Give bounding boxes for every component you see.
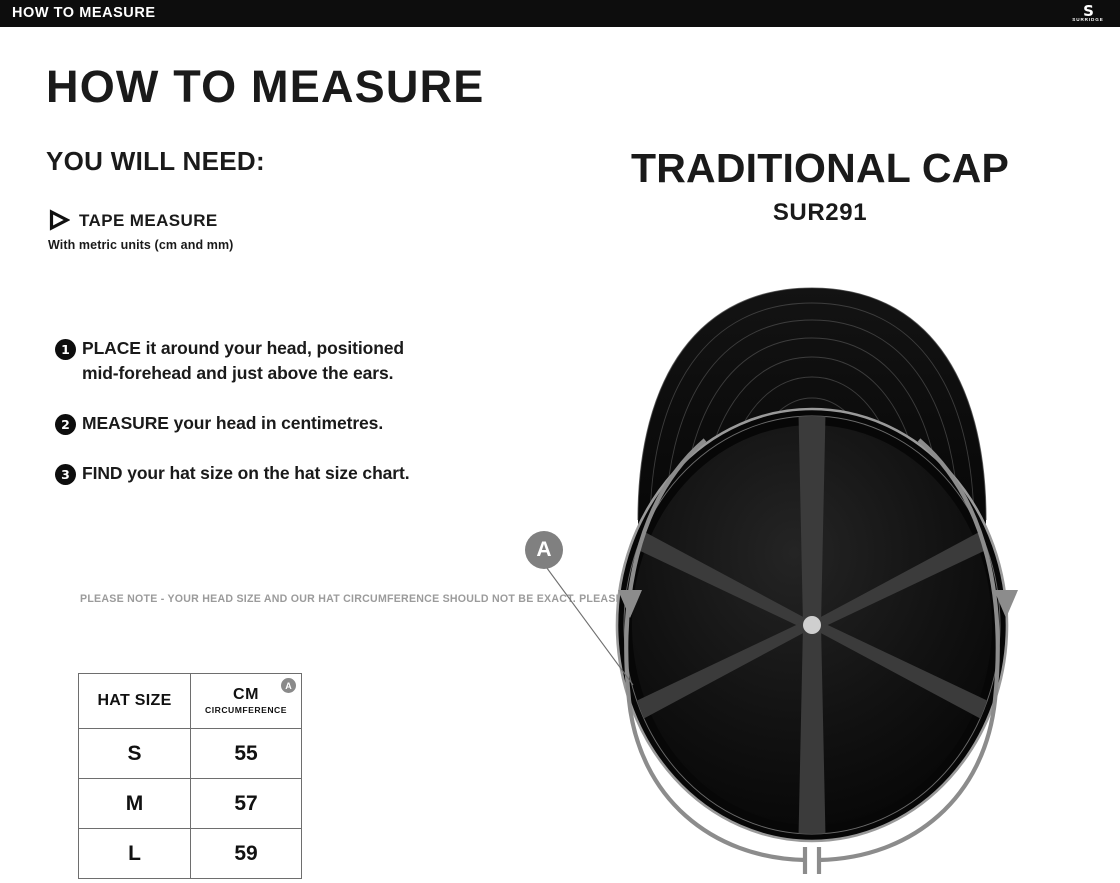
product-title: TRADITIONAL CAP: [560, 148, 1080, 189]
measurement-badge-a: A: [281, 678, 296, 693]
tool-label: TAPE MEASURE: [79, 212, 218, 229]
table-row: S 55: [79, 729, 302, 779]
step-item: 1 PLACE it around your head, positioned …: [55, 336, 415, 386]
how-to-measure-page: HOW TO MEASURE S SURRIDGE HOW TO MEASURE…: [0, 0, 1120, 883]
page-title: HOW TO MEASURE: [46, 64, 484, 109]
cell-cm: 55: [191, 729, 302, 779]
tool-sublabel: With metric units (cm and mm): [48, 239, 233, 252]
top-bar-title: HOW TO MEASURE: [12, 6, 156, 21]
cell-hat-size: S: [79, 729, 191, 779]
step-number-badge: 3: [55, 464, 76, 485]
logo-mark-icon: S: [1083, 5, 1093, 17]
column-header-hat-size: HAT SIZE: [79, 674, 191, 729]
callout-badge-a: A: [525, 531, 563, 569]
cell-hat-size: M: [79, 779, 191, 829]
step-item: 2 MEASURE your head in centimetres.: [55, 411, 415, 436]
cell-cm: 57: [191, 779, 302, 829]
instruction-steps: 1 PLACE it around your head, positioned …: [55, 336, 415, 485]
cell-cm: 59: [191, 829, 302, 879]
crown-center-button-icon: [803, 616, 821, 634]
table-header-row: HAT SIZE CM CIRCUMFERENCE A: [79, 674, 302, 729]
step-number-badge: 1: [55, 339, 76, 360]
tool-requirement: TAPE MEASURE With metric units (cm and m…: [48, 209, 233, 252]
you-will-need-heading: YOU WILL NEED:: [46, 148, 265, 174]
traditional-cap-diagram: [505, 270, 1035, 883]
table-row: L 59: [79, 829, 302, 879]
step-item: 3 FIND your hat size on the hat size cha…: [55, 461, 415, 486]
product-code: SUR291: [560, 201, 1080, 225]
step-text: MEASURE your head in centimetres.: [82, 411, 383, 436]
measure-end-ticks: [805, 847, 819, 874]
cell-hat-size: L: [79, 829, 191, 879]
logo-wordmark: SURRIDGE: [1072, 18, 1103, 23]
top-bar: HOW TO MEASURE S SURRIDGE: [0, 0, 1120, 27]
column-header-cm: CM CIRCUMFERENCE A: [191, 674, 302, 729]
column-header-cm-sub: CIRCUMFERENCE: [191, 705, 301, 715]
hat-size-table: HAT SIZE CM CIRCUMFERENCE A S 55 M 57 L …: [78, 673, 302, 879]
step-text: PLACE it around your head, positioned mi…: [82, 336, 415, 386]
play-triangle-icon: [48, 209, 70, 231]
step-number-badge: 2: [55, 414, 76, 435]
surridge-logo: S SURRIDGE: [1062, 1, 1114, 26]
table-row: M 57: [79, 779, 302, 829]
step-text: FIND your hat size on the hat size chart…: [82, 461, 410, 486]
